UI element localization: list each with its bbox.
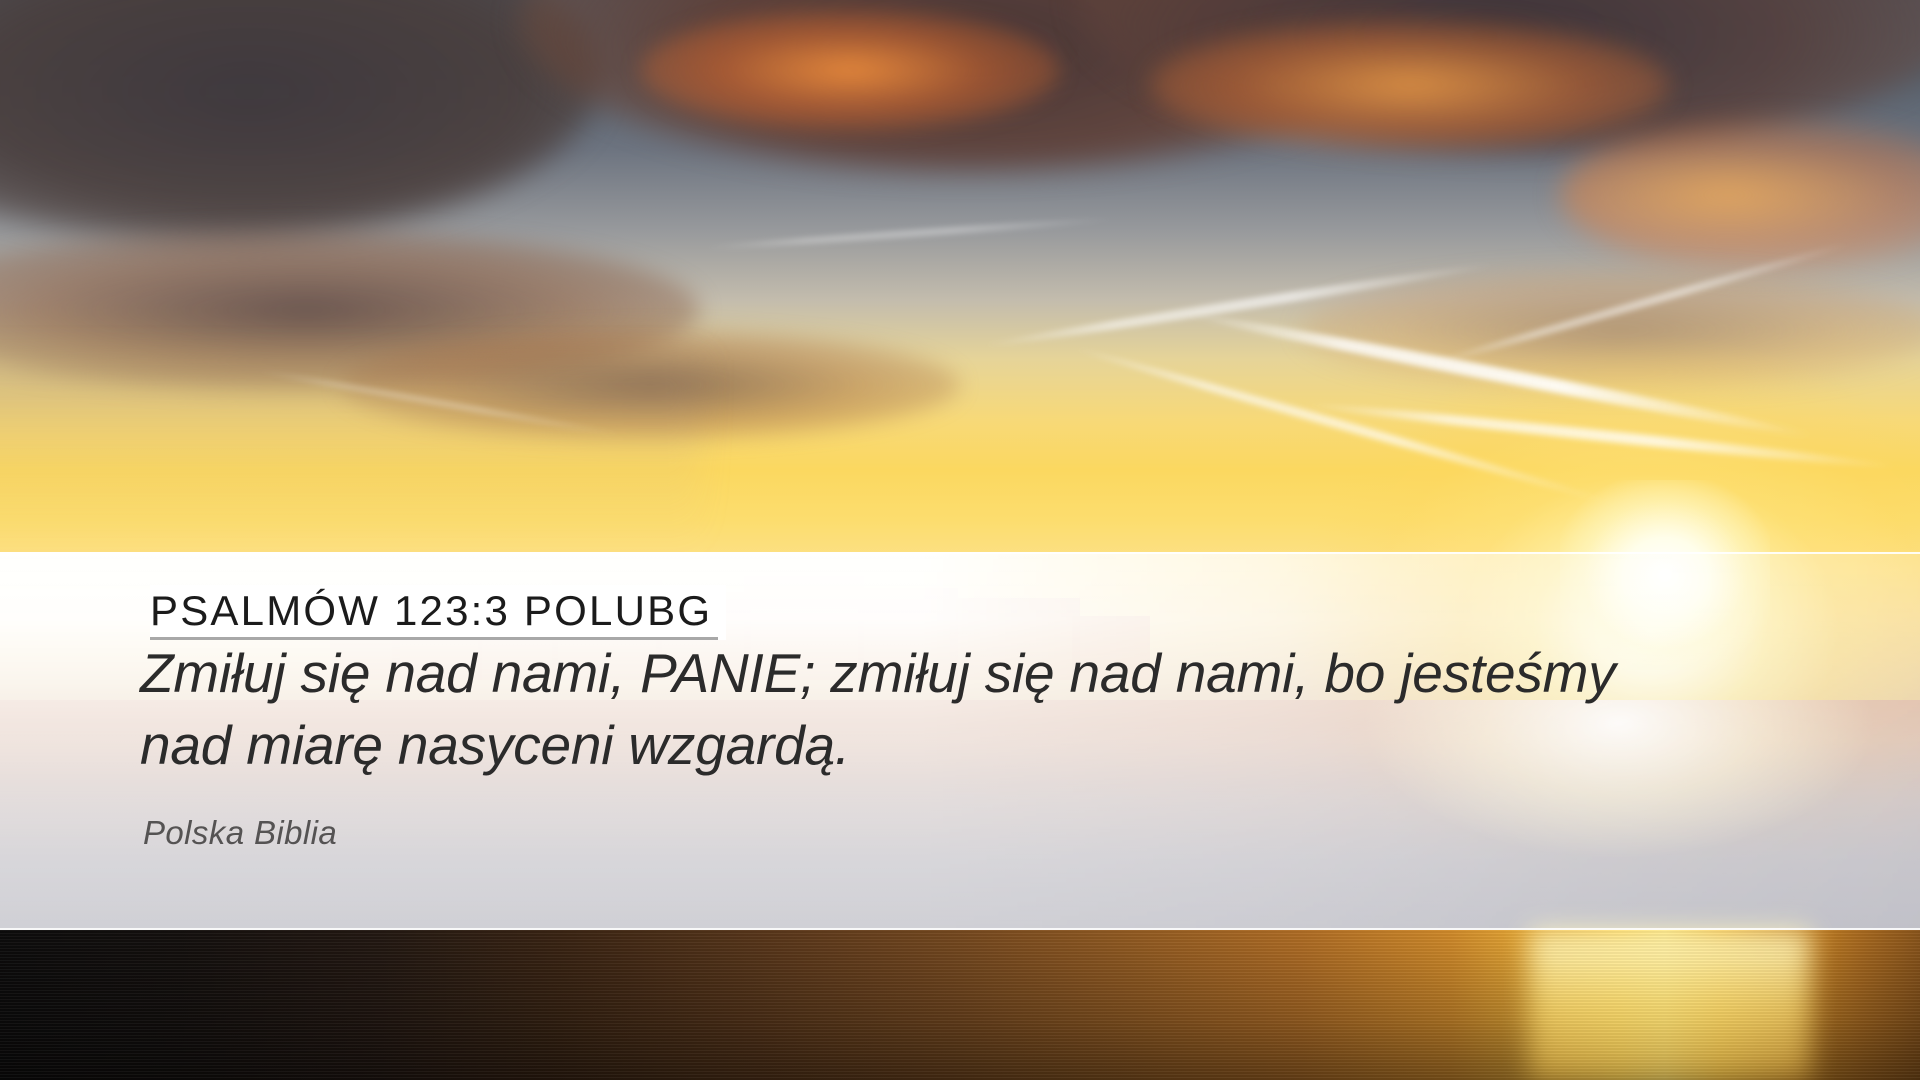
water-texture: [0, 930, 1920, 1080]
verse-image: PSALMÓW 123:3 POLUBG Zmiłuj się nad nami…: [0, 0, 1920, 1080]
bible-translation-attribution: Polska Biblia: [143, 814, 337, 852]
sun-reflection-column: [1530, 930, 1810, 1080]
foreground-water: [0, 930, 1920, 1080]
verse-card-content: PSALMÓW 123:3 POLUBG Zmiłuj się nad nami…: [0, 552, 1920, 928]
verse-text: Zmiłuj się nad nami, PANIE; zmiłuj się n…: [140, 638, 1670, 781]
verse-reference: PSALMÓW 123:3 POLUBG: [150, 585, 726, 640]
reference-container: PSALMÓW 123:3 POLUBG: [150, 585, 726, 640]
